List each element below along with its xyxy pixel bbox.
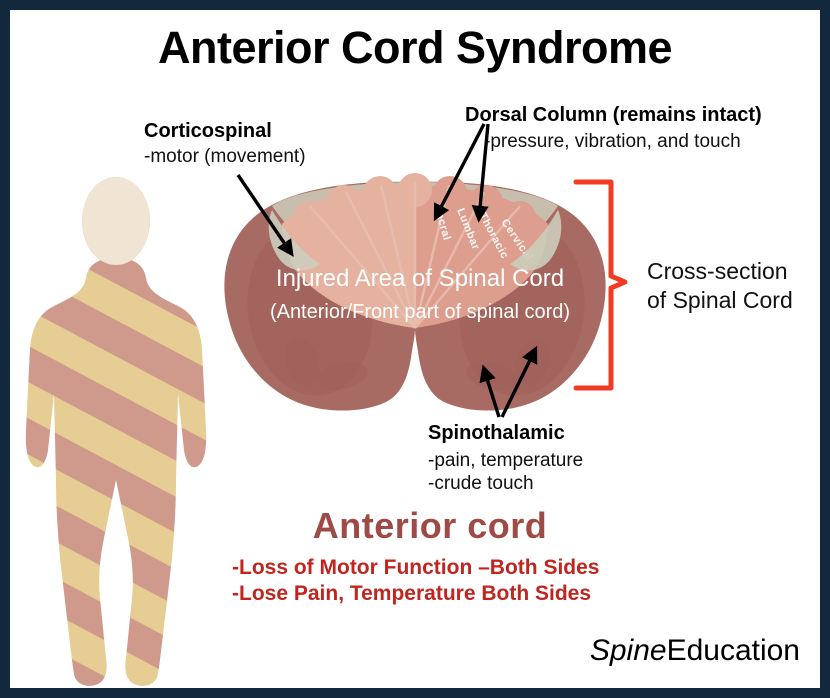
label-corticospinal-sub: -motor (movement): [144, 146, 306, 168]
summary-bullet-2: -Lose Pain, Temperature Both Sides: [232, 582, 591, 606]
diagram-page: Sacral Lumbar Thoracic Cervical: [0, 0, 830, 698]
cord-main-caption: Injured Area of Spinal Cord: [245, 265, 595, 293]
logo-italic-part: Spine: [590, 634, 667, 667]
brand-logo: SpineEducation: [10, 634, 800, 669]
body-head: [82, 177, 150, 265]
cord-sub-caption: (Anterior/Front part of spinal cord): [245, 301, 595, 324]
summary-bullet-1: -Loss of Motor Function –Both Sides: [232, 556, 599, 580]
label-spinothalamic-heading: Spinothalamic: [428, 422, 565, 445]
logo-regular-part: Education: [667, 634, 800, 667]
page-title: Anterior Cord Syndrome: [10, 22, 820, 74]
label-spinothalamic-sub1: -pain, temperature: [428, 450, 583, 472]
label-dorsal-column-heading: Dorsal Column (remains intact): [465, 104, 762, 127]
label-spinothalamic-sub2: -crude touch: [428, 473, 534, 495]
human-body-figure: [10, 160, 240, 688]
summary-heading: Anterior cord: [220, 505, 640, 547]
label-corticospinal-heading: Corticospinal: [144, 120, 272, 143]
label-cross-section: Cross-section of Spinal Cord: [647, 257, 793, 316]
label-dorsal-column-sub: -pressure, vibration, and touch: [484, 131, 741, 153]
